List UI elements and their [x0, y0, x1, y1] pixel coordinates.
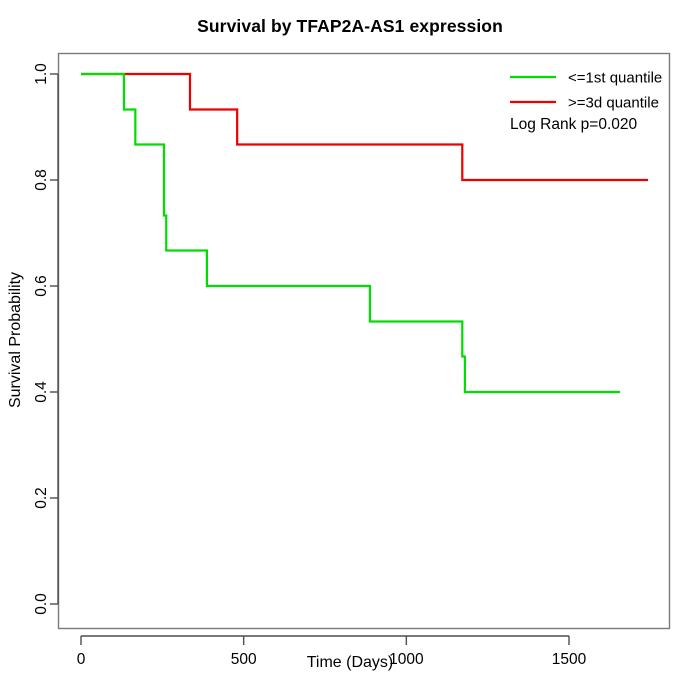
- x-tick-label: 1000: [389, 651, 424, 668]
- legend-label: >=3d quantile: [568, 95, 659, 112]
- survival-plot-page: Survival by TFAP2A-AS1 expression 0.00.2…: [0, 0, 700, 700]
- legend: <=1st quantile>=3d quantile: [510, 70, 662, 112]
- x-tick-label: 1500: [552, 651, 587, 668]
- y-tick-label: 0.6: [33, 275, 50, 297]
- survival-chart: 0.00.20.40.60.81.0 050010001500 Time (Da…: [0, 0, 700, 700]
- y-axis: 0.00.20.40.60.81.0: [33, 63, 58, 615]
- x-tick-label: 0: [77, 651, 86, 668]
- y-tick-label: 0.0: [33, 593, 50, 615]
- y-tick-label: 0.8: [33, 169, 50, 191]
- x-tick-label: 500: [231, 651, 257, 668]
- y-tick-label: 0.4: [33, 381, 50, 403]
- x-axis-title: Time (Days): [307, 654, 394, 671]
- y-tick-group: 0.00.20.40.60.81.0: [33, 63, 58, 615]
- log-rank-pvalue: Log Rank p=0.020: [510, 116, 637, 133]
- y-tick-label: 0.2: [33, 487, 50, 509]
- y-tick-label: 1.0: [33, 63, 50, 85]
- plot-frame: [59, 54, 670, 629]
- y-axis-title: Survival Probability: [7, 272, 24, 408]
- legend-label: <=1st quantile: [568, 70, 662, 87]
